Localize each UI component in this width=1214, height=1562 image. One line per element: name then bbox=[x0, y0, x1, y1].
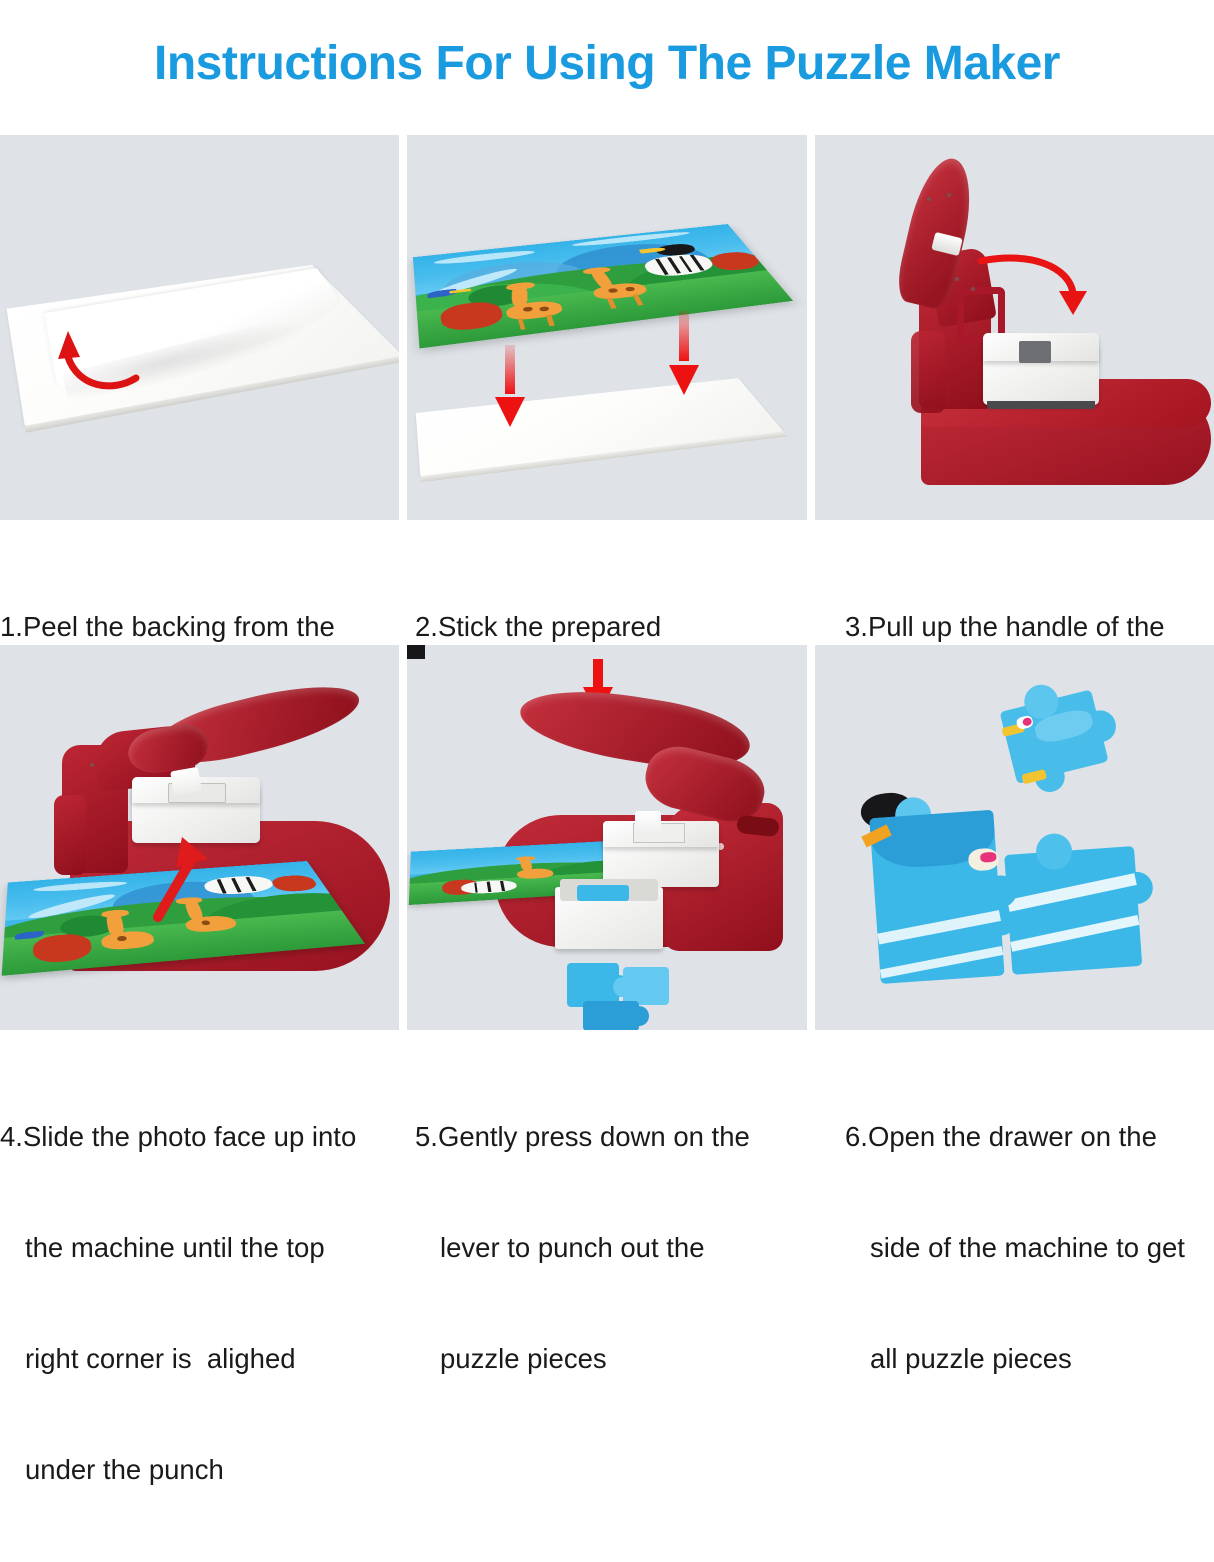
punch-die-window bbox=[1019, 341, 1051, 363]
step-1-number: 1. bbox=[0, 611, 23, 642]
step-4-image-panel bbox=[0, 645, 399, 1030]
step-6-number: 6. bbox=[845, 1121, 868, 1152]
step-6-cell: 6.Open the drawer on the side of the mac… bbox=[815, 645, 1214, 1451]
step-5-line-1: Gently press down on the bbox=[438, 1121, 750, 1152]
step-6-caption: 6.Open the drawer on the side of the mac… bbox=[815, 1030, 1214, 1451]
straight-arrow-down-icon bbox=[495, 345, 525, 427]
step-4-line-2: the machine until the top bbox=[0, 1229, 399, 1266]
step-2-number: 2. bbox=[415, 611, 438, 642]
step-6-line-3: all puzzle pieces bbox=[845, 1340, 1214, 1377]
curved-arrow-clockwise-down-icon bbox=[973, 247, 1093, 317]
step-5-cell: 5.Gently press down on the lever to punc… bbox=[407, 645, 807, 1451]
page-title: Instructions For Using The Puzzle Maker bbox=[0, 36, 1214, 91]
puzzle-piece-drawer bbox=[555, 887, 663, 949]
step-1-line-1: Peel the backing from the bbox=[23, 611, 335, 642]
adhesive-foam-board bbox=[416, 378, 784, 476]
puzzle-machine bbox=[815, 135, 1214, 520]
step-4-cell: 4.Slide the photo face up into the machi… bbox=[0, 645, 399, 1562]
instructions-infographic: Instructions For Using The Puzzle Maker bbox=[0, 0, 1214, 1214]
step-5-caption: 5.Gently press down on the lever to punc… bbox=[407, 1030, 807, 1451]
step-3-line-1: Pull up the handle of the bbox=[868, 611, 1165, 642]
step-6-line-1: Open the drawer on the bbox=[868, 1121, 1157, 1152]
step-5-line-2: lever to punch out the bbox=[415, 1229, 807, 1266]
straight-arrow-up-right-icon bbox=[146, 833, 216, 923]
step-4-caption: 4.Slide the photo face up into the machi… bbox=[0, 1030, 399, 1562]
step-4-number: 4. bbox=[0, 1121, 23, 1152]
step-4-line-4: under the punch bbox=[0, 1451, 399, 1488]
step-6-line-2: side of the machine to get bbox=[845, 1229, 1214, 1266]
puzzle-pieces-loose bbox=[407, 645, 807, 659]
puzzle-pieces-joined bbox=[860, 776, 1155, 1015]
step-5-number: 5. bbox=[415, 1121, 438, 1152]
step-1-image-panel bbox=[0, 135, 399, 520]
step-2-image-panel bbox=[407, 135, 807, 520]
step-3-image-panel bbox=[815, 135, 1214, 520]
curved-arrow-up-left-icon bbox=[32, 315, 152, 405]
step-6-image-panel bbox=[815, 645, 1214, 1030]
step-5-line-3: puzzle pieces bbox=[415, 1340, 807, 1377]
step-5-image-panel bbox=[407, 645, 807, 1030]
step-4-line-3: right corner is alighed bbox=[0, 1340, 399, 1377]
straight-arrow-down-icon bbox=[669, 311, 699, 395]
step-3-number: 3. bbox=[845, 611, 868, 642]
prepared-photo bbox=[413, 224, 793, 348]
step-4-line-1: Slide the photo face up into bbox=[23, 1121, 356, 1152]
